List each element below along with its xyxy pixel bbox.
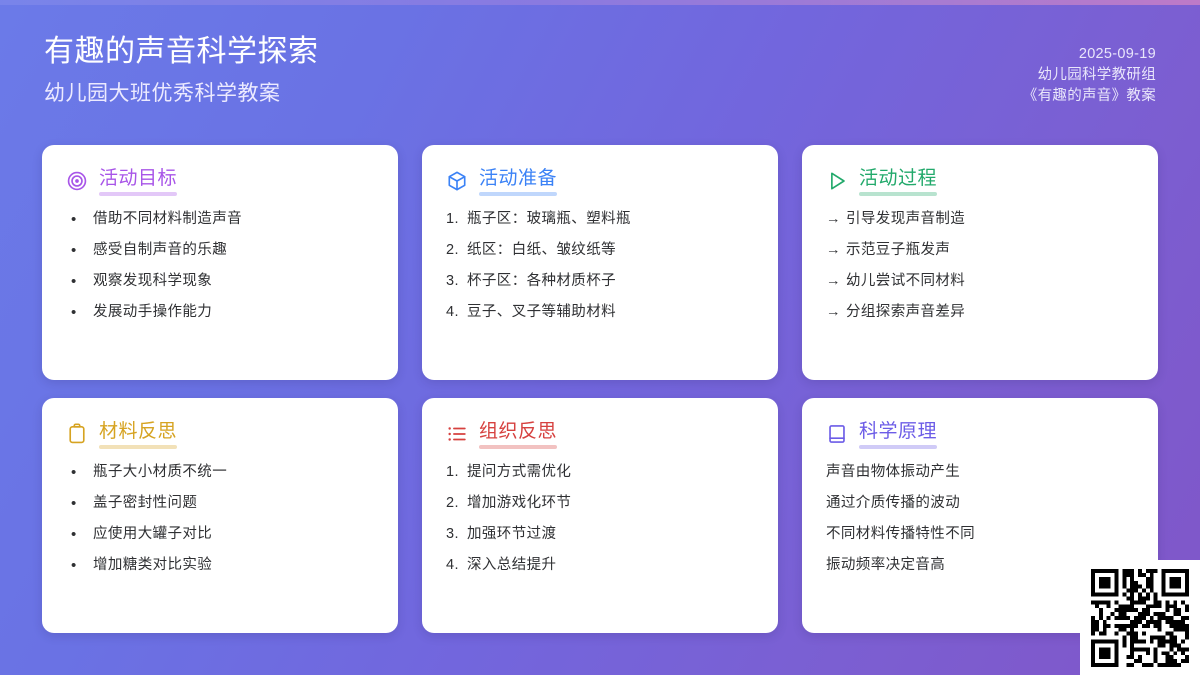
list-item-text: 观察发现科学现象 [93,273,374,290]
bullet-marker: • [66,273,93,290]
card-header: 组织反思 [446,420,754,448]
page-subtitle: 幼儿园大班优秀科学教案 [44,81,319,107]
bullet-marker: • [66,464,93,481]
list-item-text: 深入总结提升 [467,557,754,574]
list-item-text: 分组探索声音差异 [846,304,1134,321]
list-item: 1.瓶子区：玻璃瓶、塑料瓶 [446,211,754,228]
list-item: •借助不同材料制造声音 [66,211,374,228]
card-activity-process[interactable]: 活动过程→引导发现声音制造→示范豆子瓶发声→幼儿尝试不同材料→分组探索声音差异 [802,145,1158,380]
qr-panel [1080,560,1200,675]
card-header: 活动准备 [446,167,754,195]
card-item-list: 声音由物体振动产生通过介质传播的波动不同材料传播特性不同振动频率决定音高 [826,464,1134,574]
list-item-text: 不同材料传播特性不同 [826,526,1134,543]
list-item: 3.加强环节过渡 [446,526,754,543]
bullet-marker: • [66,526,93,543]
bullet-marker: • [66,557,93,574]
list-item-text: 幼儿尝试不同材料 [846,273,1134,290]
list-item-text: 发展动手操作能力 [93,304,374,321]
list-item: 通过介质传播的波动 [826,495,1134,512]
meta-organization: 幼儿园科学教研组 [1038,65,1156,86]
card-title: 材料反思 [99,420,177,448]
box-icon [446,170,468,192]
bullet-marker: • [66,211,93,228]
list-item-text: 提问方式需优化 [467,464,754,481]
slide-header: 有趣的声音科学探索 幼儿园大班优秀科学教案 2025-09-19 幼儿园科学教研… [0,0,1200,140]
number-marker: 1. [446,464,467,481]
list-item-text: 通过介质传播的波动 [826,495,1134,512]
list-item: →幼儿尝试不同材料 [826,273,1134,290]
list-item: 3.杯子区：各种材质杯子 [446,273,754,290]
list-item-text: 增加游戏化环节 [467,495,754,512]
book-icon [826,423,848,445]
list-item-text: 感受自制声音的乐趣 [93,242,374,259]
card-header: 活动目标 [66,167,374,195]
card-material-reflection[interactable]: 材料反思•瓶子大小材质不统一•盖子密封性问题•应使用大罐子对比•增加糖类对比实验 [42,398,398,633]
bullet-marker: • [66,242,93,259]
list-item: →示范豆子瓶发声 [826,242,1134,259]
card-title: 活动准备 [479,167,557,195]
card-grid: 活动目标•借助不同材料制造声音•感受自制声音的乐趣•观察发现科学现象•发展动手操… [42,145,1158,633]
card-title: 组织反思 [479,420,557,448]
card-header: 活动过程 [826,167,1134,195]
list-item-text: 声音由物体振动产生 [826,464,1134,481]
list-item-text: 应使用大罐子对比 [93,526,374,543]
list-item: •盖子密封性问题 [66,495,374,512]
header-meta: 2025-09-19 幼儿园科学教研组 《有趣的声音》教案 [1023,34,1156,107]
list-item: →分组探索声音差异 [826,304,1134,321]
slide-root: 有趣的声音科学探索 幼儿园大班优秀科学教案 2025-09-19 幼儿园科学教研… [0,0,1200,675]
card-organization-reflection[interactable]: 组织反思1.提问方式需优化2.增加游戏化环节3.加强环节过渡4.深入总结提升 [422,398,778,633]
clipboard-icon [66,423,88,445]
qr-code-icon [1091,569,1189,667]
meta-document: 《有趣的声音》教案 [1023,86,1156,107]
list-item-text: 豆子、叉子等辅助材料 [467,304,754,321]
number-marker: 3. [446,273,467,290]
list-icon [446,423,468,445]
list-item: →引导发现声音制造 [826,211,1134,228]
arrow-marker: → [826,273,846,290]
list-item-text: 增加糖类对比实验 [93,557,374,574]
play-icon [826,170,848,192]
list-item: 4.豆子、叉子等辅助材料 [446,304,754,321]
card-item-list: •瓶子大小材质不统一•盖子密封性问题•应使用大罐子对比•增加糖类对比实验 [66,464,374,574]
list-item-text: 杯子区：各种材质杯子 [467,273,754,290]
list-item-text: 瓶子区：玻璃瓶、塑料瓶 [467,211,754,228]
list-item: 2.纸区：白纸、皱纹纸等 [446,242,754,259]
card-item-list: •借助不同材料制造声音•感受自制声音的乐趣•观察发现科学现象•发展动手操作能力 [66,211,374,321]
list-item: 不同材料传播特性不同 [826,526,1134,543]
card-title: 活动过程 [859,167,937,195]
number-marker: 4. [446,304,467,321]
list-item: •观察发现科学现象 [66,273,374,290]
list-item: •发展动手操作能力 [66,304,374,321]
bullet-marker: • [66,495,93,512]
list-item-text: 引导发现声音制造 [846,211,1134,228]
card-activity-goals[interactable]: 活动目标•借助不同材料制造声音•感受自制声音的乐趣•观察发现科学现象•发展动手操… [42,145,398,380]
list-item: •感受自制声音的乐趣 [66,242,374,259]
list-item: 1.提问方式需优化 [446,464,754,481]
card-header: 材料反思 [66,420,374,448]
number-marker: 3. [446,526,467,543]
meta-date: 2025-09-19 [1079,44,1156,65]
card-item-list: →引导发现声音制造→示范豆子瓶发声→幼儿尝试不同材料→分组探索声音差异 [826,211,1134,321]
title-block: 有趣的声音科学探索 幼儿园大班优秀科学教案 [44,34,319,107]
arrow-marker: → [826,304,846,321]
list-item-text: 加强环节过渡 [467,526,754,543]
arrow-marker: → [826,211,846,228]
list-item: •瓶子大小材质不统一 [66,464,374,481]
list-item-text: 借助不同材料制造声音 [93,211,374,228]
list-item-text: 纸区：白纸、皱纹纸等 [467,242,754,259]
list-item-text: 盖子密封性问题 [93,495,374,512]
card-title: 活动目标 [99,167,177,195]
card-header: 科学原理 [826,420,1134,448]
bullet-marker: • [66,304,93,321]
number-marker: 2. [446,495,467,512]
number-marker: 2. [446,242,467,259]
card-title: 科学原理 [859,420,937,448]
list-item: 2.增加游戏化环节 [446,495,754,512]
list-item: 声音由物体振动产生 [826,464,1134,481]
list-item-text: 瓶子大小材质不统一 [93,464,374,481]
list-item: 4.深入总结提升 [446,557,754,574]
card-activity-preparation[interactable]: 活动准备1.瓶子区：玻璃瓶、塑料瓶2.纸区：白纸、皱纹纸等3.杯子区：各种材质杯… [422,145,778,380]
page-title: 有趣的声音科学探索 [44,34,319,70]
arrow-marker: → [826,242,846,259]
card-item-list: 1.瓶子区：玻璃瓶、塑料瓶2.纸区：白纸、皱纹纸等3.杯子区：各种材质杯子4.豆… [446,211,754,321]
card-item-list: 1.提问方式需优化2.增加游戏化环节3.加强环节过渡4.深入总结提升 [446,464,754,574]
list-item-text: 示范豆子瓶发声 [846,242,1134,259]
number-marker: 1. [446,211,467,228]
target-icon [66,170,88,192]
number-marker: 4. [446,557,467,574]
list-item: •应使用大罐子对比 [66,526,374,543]
list-item: •增加糖类对比实验 [66,557,374,574]
